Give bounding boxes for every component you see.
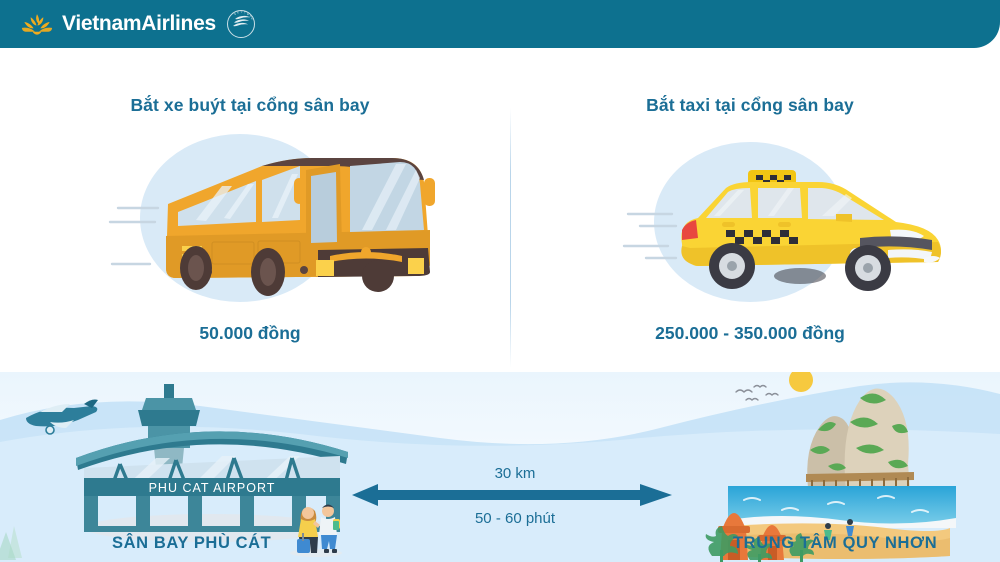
route-duration: 50 - 60 phút — [340, 510, 690, 527]
option-title-taxi: Bắt taxi tại cổng sân bay — [500, 95, 1000, 116]
svg-text:E: E — [247, 12, 249, 16]
app-header: VietnamAirlines SKY TEAM — [0, 0, 1000, 48]
option-price-bus: 50.000 đồng — [0, 323, 500, 344]
option-card-bus[interactable]: Bắt xe buýt tại cổng sân bay — [0, 48, 500, 378]
taxi-icon — [500, 126, 1000, 316]
transport-options: Bắt xe buýt tại cổng sân bay — [0, 48, 1000, 378]
bush-icon — [0, 512, 42, 562]
airport-sign-text: PHU CAT AIRPORT — [149, 481, 276, 495]
svg-text:S: S — [234, 12, 236, 16]
route-distance: 30 km — [340, 465, 690, 482]
option-price-taxi: 250.000 - 350.000 đồng — [500, 323, 1000, 344]
svg-text:K: K — [237, 11, 239, 15]
svg-text:Y: Y — [240, 10, 242, 14]
route-info: 30 km 50 - 60 phút — [340, 465, 690, 535]
travelers-icon — [288, 497, 344, 557]
option-title-bus: Bắt xe buýt tại cổng sân bay — [0, 95, 500, 116]
brand-name: VietnamAirlines — [62, 12, 216, 36]
svg-text:T: T — [244, 11, 246, 15]
city-label: TRUNG TÂM QUY NHƠN — [733, 534, 937, 553]
option-card-taxi[interactable]: Bắt taxi tại cổng sân bay — [500, 48, 1000, 378]
skyteam-icon: SKY TEAM — [226, 9, 256, 39]
lotus-icon — [20, 10, 54, 38]
bus-icon — [0, 126, 500, 316]
airport-label: SÂN BAY PHÙ CÁT — [112, 534, 271, 553]
